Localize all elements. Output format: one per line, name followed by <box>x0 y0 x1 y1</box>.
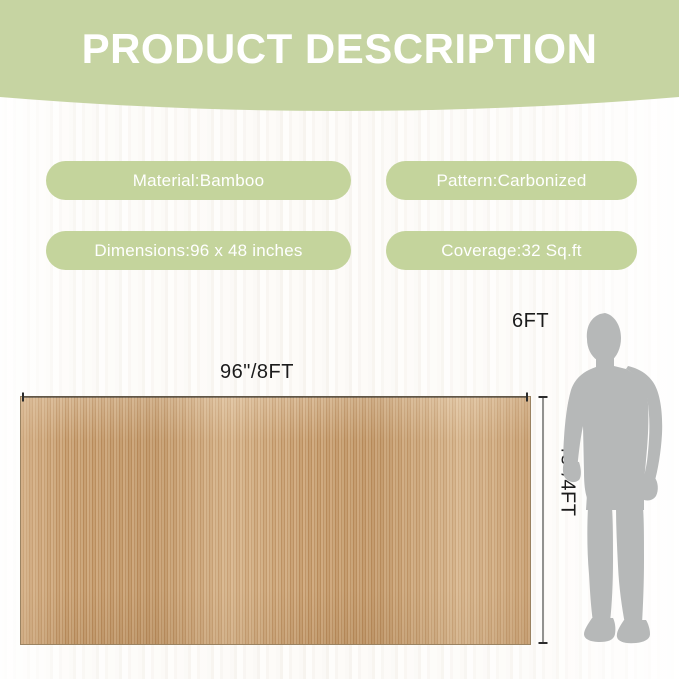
width-dimension-line <box>22 392 528 402</box>
width-dimension-label: 96"/8FT <box>220 361 294 384</box>
header-banner: PRODUCT DESCRIPTION <box>0 0 679 122</box>
spec-pill-coverage-label: Coverage:32 Sq.ft <box>441 241 581 261</box>
spec-pill-material-label: Material:Bamboo <box>133 171 265 191</box>
spec-pill-coverage[interactable]: Coverage:32 Sq.ft <box>386 231 637 270</box>
bamboo-mat-image <box>20 396 531 645</box>
standing-person-icon <box>560 312 668 645</box>
spec-pill-dimensions[interactable]: Dimensions:96 x 48 inches <box>46 231 351 270</box>
spec-pill-pattern[interactable]: Pattern:Carbonized <box>386 161 637 200</box>
spec-pill-material[interactable]: Material:Bamboo <box>46 161 351 200</box>
width-dimension-arrow-icon <box>22 392 528 402</box>
person-height-label: 6FT <box>512 310 549 333</box>
product-description-infographic: PRODUCT DESCRIPTION Material:Bamboo Patt… <box>0 0 679 679</box>
bamboo-shading-overlay <box>21 397 530 644</box>
spec-pill-pattern-label: Pattern:Carbonized <box>436 171 586 191</box>
spec-pill-dimensions-label: Dimensions:96 x 48 inches <box>94 241 302 261</box>
person-silhouette <box>560 312 668 645</box>
height-dimension-arrow-icon <box>538 396 548 644</box>
height-dimension-line <box>538 396 548 644</box>
page-title: PRODUCT DESCRIPTION <box>0 28 679 70</box>
